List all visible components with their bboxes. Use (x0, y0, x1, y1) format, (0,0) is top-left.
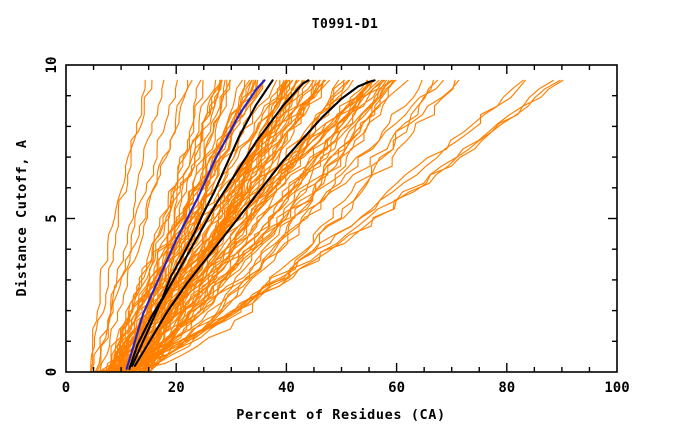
y-axis-title: Distance Cutoff, A (14, 139, 30, 296)
y-tick-label: 5 (44, 214, 60, 222)
x-axis-title: Percent of Residues (CA) (236, 407, 445, 423)
x-tick-label: 80 (498, 380, 515, 396)
x-tick-label: 0 (62, 380, 70, 396)
chart-title: T0991-D1 (312, 17, 379, 32)
x-tick-label: 20 (168, 380, 185, 396)
x-tick-label: 60 (388, 380, 405, 396)
line-chart: T0991-D1 0204060801000510 Percent of Res… (0, 0, 680, 440)
x-tick-label: 40 (278, 380, 295, 396)
x-tick-label: 100 (604, 380, 629, 396)
chart-container: T0991-D1 0204060801000510 Percent of Res… (0, 0, 680, 440)
y-tick-label: 10 (44, 57, 60, 74)
y-tick-label: 0 (44, 368, 60, 376)
